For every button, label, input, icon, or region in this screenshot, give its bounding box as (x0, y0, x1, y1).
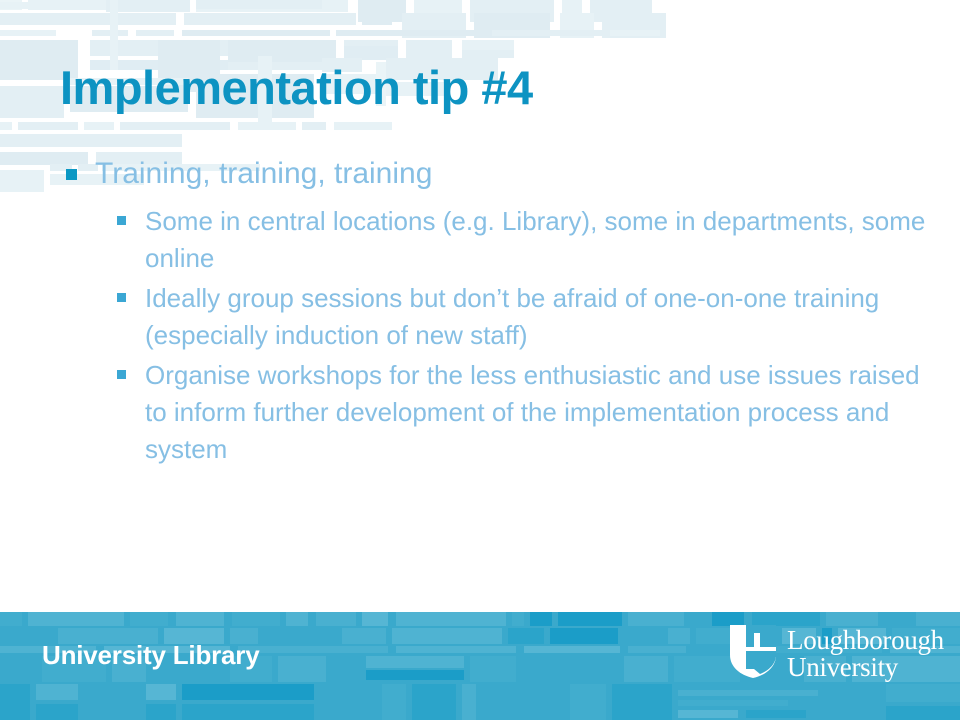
decorative-block (106, 0, 190, 12)
decorative-block (678, 710, 738, 718)
decorative-block (320, 684, 376, 720)
shield-icon (730, 625, 776, 678)
decorative-block (570, 684, 606, 720)
decorative-block (196, 0, 348, 12)
footer-brand-text: University Library (42, 640, 260, 671)
decorative-block (462, 50, 514, 58)
decorative-block (0, 122, 12, 130)
decorative-block (824, 684, 880, 720)
decorative-block (470, 656, 516, 682)
decorative-block (366, 656, 464, 668)
decorative-block (396, 612, 506, 626)
decorative-block (678, 690, 818, 696)
decorative-block (362, 15, 392, 25)
decorative-block (624, 628, 662, 644)
decorative-block (512, 612, 524, 626)
decorative-block (136, 30, 174, 36)
decorative-block (392, 628, 502, 644)
decorative-block (0, 0, 22, 10)
decorative-block (886, 706, 960, 720)
decorative-block (36, 704, 78, 720)
decorative-block (590, 0, 652, 22)
decorative-block (558, 612, 622, 626)
logo-line-1: Loughborough (787, 627, 944, 654)
decorative-block (362, 612, 388, 626)
decorative-block (358, 0, 406, 22)
bullet-sublist: Some in central locations (e.g. Library)… (55, 203, 935, 467)
bullet-level2: Ideally group sessions but don’t be afra… (55, 280, 935, 354)
decorative-block (0, 684, 30, 720)
decorative-block (228, 40, 336, 62)
decorative-block (120, 122, 230, 130)
decorative-block (28, 612, 124, 626)
page-title: Implementation tip #4 (60, 62, 920, 114)
slide-body: Training, training, training Some in cen… (55, 155, 935, 471)
bullet-level2-text: Organise workshops for the less enthusia… (145, 360, 920, 464)
decorative-block (0, 30, 56, 36)
decorative-block (624, 656, 668, 682)
logo-line-2: University (787, 654, 944, 681)
decorative-block (530, 612, 552, 626)
bullet-square-icon (117, 216, 126, 225)
decorative-block (336, 30, 484, 36)
decorative-block (92, 30, 128, 36)
presentation-slide: Implementation tip #4 Training, training… (0, 0, 960, 720)
decorative-block (36, 684, 78, 700)
decorative-block (146, 684, 176, 700)
decorative-block (366, 670, 464, 680)
decorative-block (110, 0, 118, 70)
decorative-block (232, 612, 280, 626)
decorative-block (678, 700, 788, 706)
decorative-block (182, 684, 314, 700)
decorative-block (826, 612, 878, 626)
decorative-block (344, 46, 398, 60)
decorative-block (182, 30, 330, 36)
decorative-block (342, 628, 386, 644)
decorative-block (610, 30, 660, 36)
bullet-square-icon (66, 169, 77, 180)
decorative-block (508, 628, 544, 644)
decorative-block (0, 170, 44, 192)
decorative-block (550, 628, 618, 644)
loughborough-university-logo: Loughborough University (730, 625, 944, 681)
bullet-square-icon (117, 370, 126, 379)
decorative-block (612, 684, 672, 720)
decorative-block (196, 0, 322, 9)
decorative-block (668, 628, 690, 644)
decorative-block (90, 40, 276, 56)
decorative-block (84, 122, 114, 130)
bullet-level1-text: Training, training, training (95, 157, 432, 190)
decorative-block (344, 40, 398, 60)
decorative-block (692, 612, 704, 626)
decorative-block (18, 122, 78, 130)
decorative-block (402, 13, 466, 38)
decorative-block (522, 656, 618, 682)
decorative-block (524, 646, 620, 653)
decorative-block (0, 134, 182, 147)
decorative-block (886, 684, 960, 702)
decorative-block (628, 646, 686, 653)
logo-wordmark: Loughborough University (787, 625, 944, 681)
decorative-block (712, 612, 744, 626)
decorative-block (334, 122, 392, 130)
decorative-block (332, 656, 360, 682)
decorative-block (884, 612, 910, 626)
decorative-block (562, 0, 582, 22)
decorative-block (462, 684, 476, 720)
decorative-block (602, 13, 666, 38)
decorative-block (238, 646, 388, 653)
decorative-block (482, 684, 564, 720)
decorative-block (752, 612, 820, 626)
decorative-block (176, 612, 224, 626)
decorative-block (28, 0, 188, 10)
bullet-level2-text: Some in central locations (e.g. Library)… (145, 206, 925, 273)
decorative-block (130, 612, 168, 626)
decorative-block (146, 704, 176, 720)
decorative-block (286, 612, 308, 626)
decorative-block (414, 0, 462, 22)
bullet-level2: Organise workshops for the less enthusia… (55, 357, 935, 468)
decorative-block (0, 28, 10, 34)
decorative-block (184, 13, 356, 25)
decorative-block (84, 684, 140, 720)
decorative-block (396, 646, 516, 653)
decorative-block (316, 612, 356, 626)
decorative-block (492, 30, 604, 36)
decorative-block (916, 612, 960, 626)
decorative-block (470, 0, 554, 22)
decorative-block (0, 13, 176, 25)
decorative-block (382, 684, 406, 720)
decorative-block (746, 710, 806, 718)
decorative-block (412, 684, 456, 720)
bullet-square-icon (117, 293, 126, 302)
decorative-block (278, 656, 326, 682)
decorative-block (474, 13, 550, 38)
bullet-level2: Some in central locations (e.g. Library)… (55, 203, 935, 277)
decorative-block (0, 2, 188, 9)
decorative-block (406, 40, 452, 62)
decorative-block (628, 612, 684, 626)
bullet-level2-text: Ideally group sessions but don’t be afra… (145, 283, 879, 350)
bullet-level1: Training, training, training (55, 155, 935, 193)
decorative-block (182, 704, 314, 720)
decorative-block (560, 13, 594, 38)
decorative-block (302, 122, 326, 130)
decorative-block (462, 40, 514, 56)
decorative-block (264, 628, 336, 644)
decorative-block (0, 612, 22, 626)
decorative-block (238, 122, 296, 130)
decorative-block (0, 656, 36, 682)
decorative-block (0, 86, 64, 118)
